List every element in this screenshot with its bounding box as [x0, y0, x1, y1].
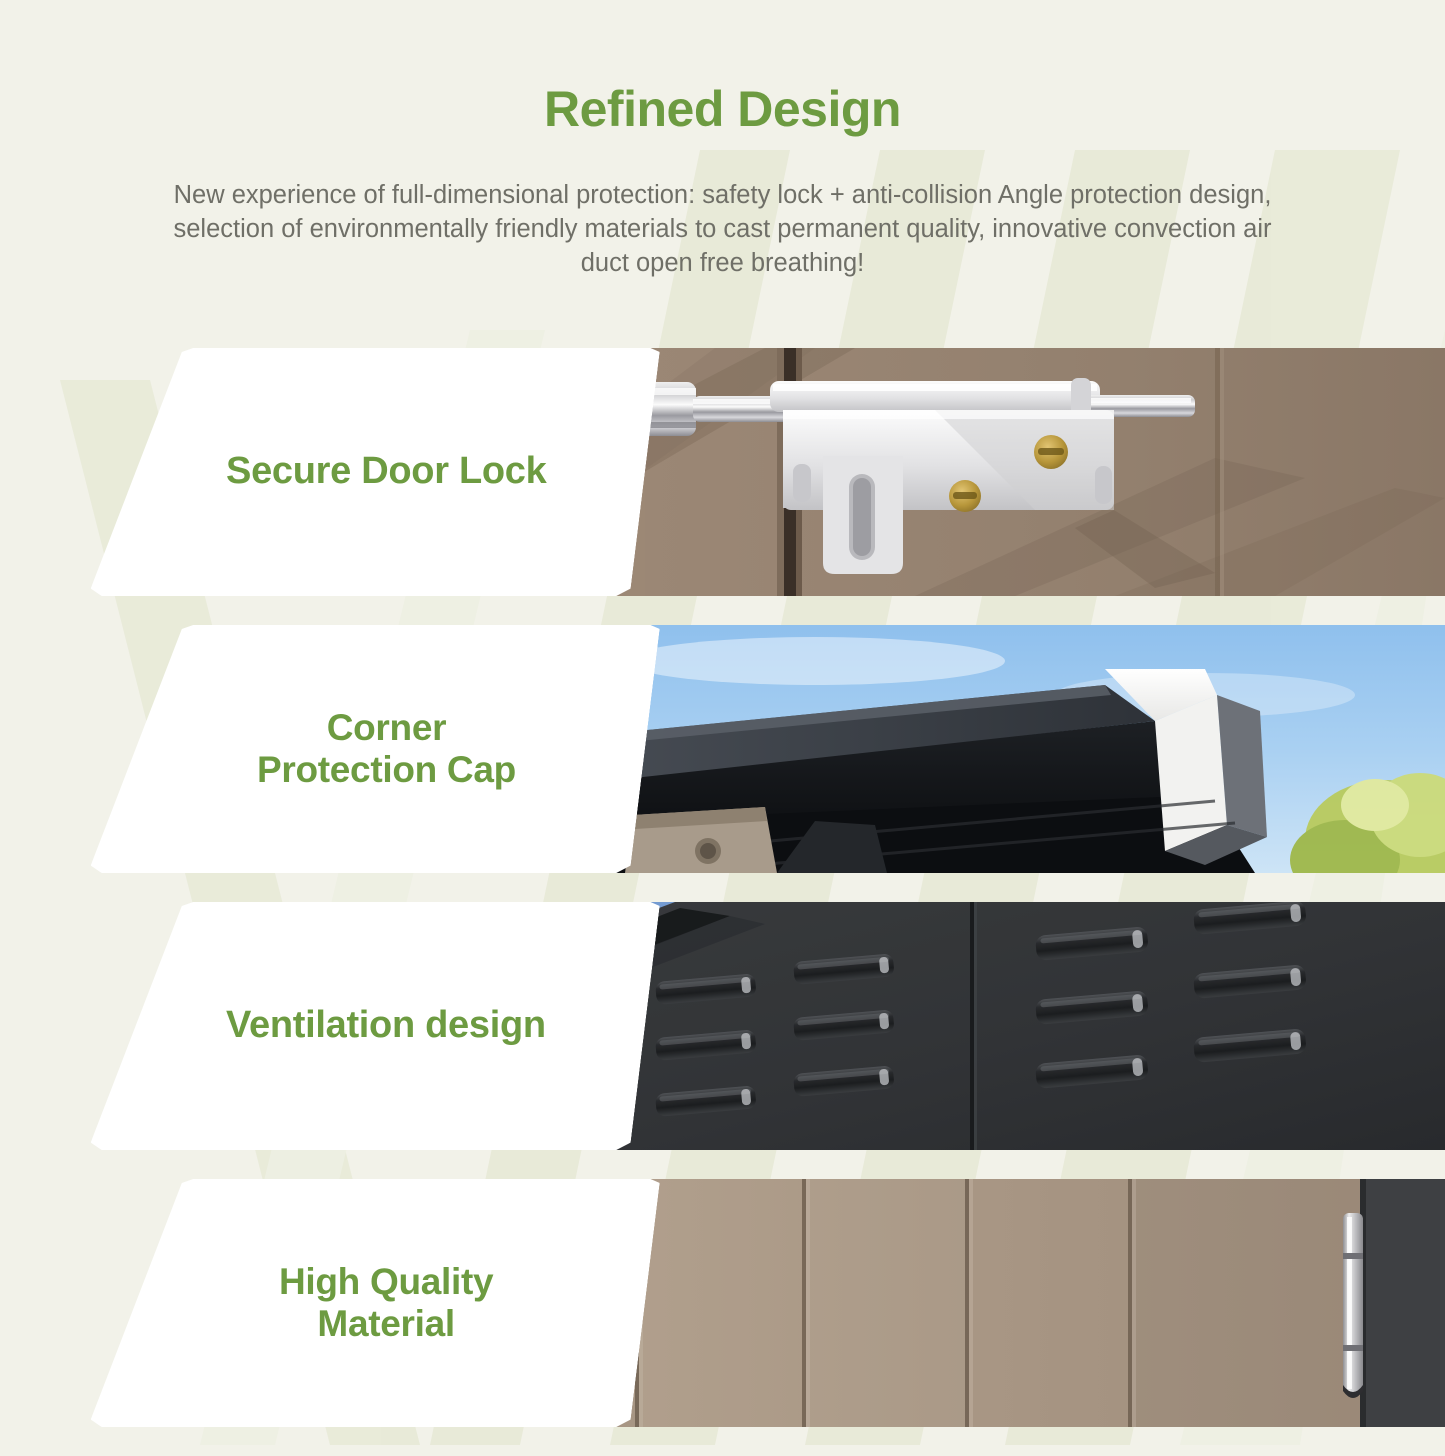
feature-label-panel: High Quality Material: [90, 1179, 660, 1427]
subtitle-line-3: duct open free breathing!: [53, 246, 1393, 280]
feature-label-panel: Ventilation design: [90, 902, 660, 1150]
feature-label-line-1: Secure Door Lock: [226, 450, 546, 492]
feature-card-high-quality-material[interactable]: High Quality Material: [0, 1179, 1445, 1427]
page-header: Refined Design New experience of full-di…: [0, 0, 1445, 280]
feature-label-line-1: Ventilation design: [226, 1004, 546, 1046]
feature-card-list: Secure Door Lock: [0, 348, 1445, 1456]
feature-label: High Quality Material: [257, 1261, 493, 1345]
feature-card-corner-protection-cap[interactable]: Corner Protection Cap: [0, 625, 1445, 873]
feature-label-line-2: Material: [279, 1303, 493, 1345]
feature-label-line-1: Corner: [326, 707, 446, 748]
feature-label: Corner Protection Cap: [235, 707, 516, 791]
feature-card-ventilation-design[interactable]: Ventilation design: [0, 902, 1445, 1150]
page-subtitle: New experience of full-dimensional prote…: [53, 178, 1393, 280]
subtitle-line-2: selection of environmentally friendly ma…: [53, 212, 1393, 246]
page-title: Refined Design: [0, 0, 1445, 134]
feature-label-panel: Secure Door Lock: [90, 348, 660, 596]
feature-label: Ventilation design: [204, 1004, 546, 1047]
subtitle-line-1: New experience of full-dimensional prote…: [53, 178, 1393, 212]
feature-label-line-1: High Quality: [279, 1261, 493, 1302]
feature-card-secure-door-lock[interactable]: Secure Door Lock: [0, 348, 1445, 596]
feature-label-line-2: Protection Cap: [257, 749, 516, 791]
feature-label: Secure Door Lock: [204, 450, 546, 493]
feature-label-panel: Corner Protection Cap: [90, 625, 660, 873]
